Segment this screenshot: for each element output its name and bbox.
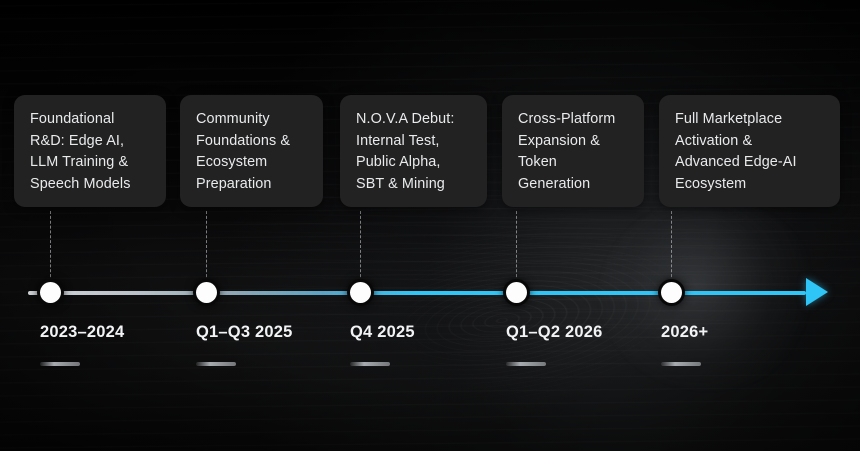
milestone-card-text: Foundational R&D: Edge AI, LLM Training …	[30, 109, 150, 195]
milestone-card[interactable]: Full Marketplace Activation & Advanced E…	[659, 95, 840, 207]
milestone-connector-line	[360, 211, 361, 282]
timeline-arrow-icon	[806, 278, 828, 306]
milestone-node[interactable]	[40, 282, 61, 303]
milestone-card-text: Full Marketplace Activation & Advanced E…	[675, 109, 824, 195]
milestone-node[interactable]	[196, 282, 217, 303]
milestone-card[interactable]: Foundational R&D: Edge AI, LLM Training …	[14, 95, 166, 207]
milestone-card-text: N.O.V.A Debut: Internal Test, Public Alp…	[356, 109, 471, 195]
milestone-connector-line	[50, 211, 51, 282]
milestone-connector-line	[516, 211, 517, 282]
roadmap-cards: Foundational R&D: Edge AI, LLM Training …	[0, 0, 860, 220]
milestone-date-label: 2026+	[661, 323, 708, 342]
milestone-node[interactable]	[350, 282, 371, 303]
milestone-label-underline	[506, 362, 546, 366]
milestone-card[interactable]: Cross-Platform Expansion & Token Generat…	[502, 95, 644, 207]
milestone-date-label: Q1–Q2 2026	[506, 323, 603, 342]
milestone-label-underline	[661, 362, 701, 366]
milestone-label-underline	[350, 362, 390, 366]
milestone-connector-line	[671, 211, 672, 282]
timeline-axis-line	[28, 291, 806, 295]
milestone-label-underline	[40, 362, 80, 366]
milestone-card[interactable]: Community Foundations & Ecosystem Prepar…	[180, 95, 323, 207]
milestone-date-label: Q1–Q3 2025	[196, 323, 293, 342]
milestone-date-label: Q4 2025	[350, 323, 415, 342]
milestone-node[interactable]	[506, 282, 527, 303]
milestone-label-underline	[196, 362, 236, 366]
milestone-card[interactable]: N.O.V.A Debut: Internal Test, Public Alp…	[340, 95, 487, 207]
milestone-connector-line	[206, 211, 207, 282]
milestone-card-text: Community Foundations & Ecosystem Prepar…	[196, 109, 307, 195]
milestone-card-text: Cross-Platform Expansion & Token Generat…	[518, 109, 628, 195]
milestone-date-label: 2023–2024	[40, 323, 124, 342]
milestone-node[interactable]	[661, 282, 682, 303]
